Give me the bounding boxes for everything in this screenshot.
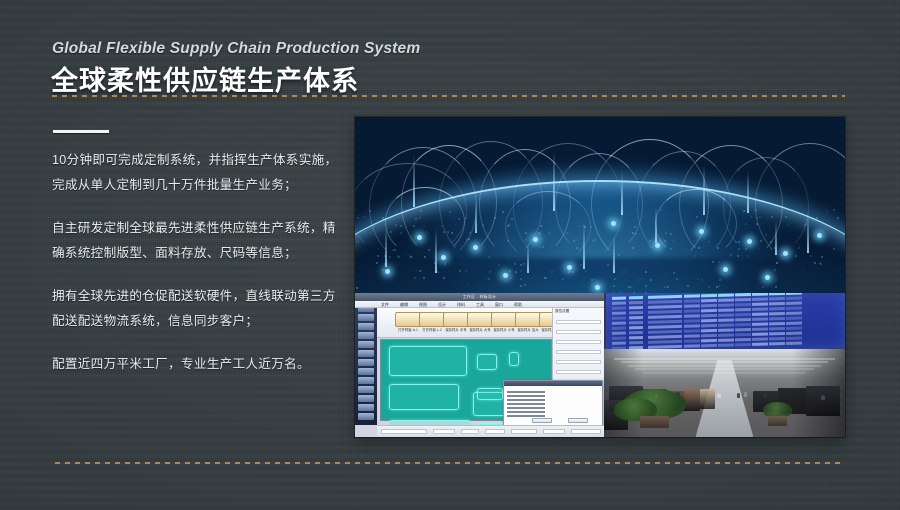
cad-status-segment-2: [461, 429, 479, 434]
led-cell-5-8: [769, 317, 785, 320]
light-bar-5: [385, 227, 387, 267]
network-node-12: [503, 273, 508, 278]
map-dot-15: [676, 278, 678, 280]
map-dot-214: [520, 285, 522, 287]
led-cell-7-6: [735, 328, 751, 331]
map-dot-7: [775, 279, 777, 281]
map-dot-89: [738, 241, 740, 243]
map-dot-190: [737, 255, 739, 257]
led-cell-7-7: [752, 327, 768, 330]
garment-rack-4: [700, 389, 714, 408]
led-cell-4-4: [701, 314, 717, 317]
factory-worker-7: [821, 395, 825, 400]
led-cell-9-8: [769, 337, 785, 340]
led-cell-5-7: [752, 317, 768, 320]
map-dot-229: [385, 270, 387, 272]
led-cell-7-9: [786, 327, 802, 330]
map-dot-38: [449, 211, 451, 213]
map-dot-231: [488, 278, 490, 280]
map-dot-101: [410, 256, 412, 258]
map-dot-34: [719, 279, 721, 281]
network-node-13: [723, 267, 728, 272]
map-dot-162: [724, 209, 726, 211]
ceiling-light-row-2: [628, 365, 821, 367]
map-dot-204: [485, 278, 487, 280]
map-dot-11: [502, 211, 504, 213]
map-dot-192: [826, 263, 828, 265]
map-dot-119: [376, 262, 378, 264]
network-node-3: [533, 237, 538, 242]
map-dot-18: [377, 248, 379, 250]
map-dot-164: [357, 217, 359, 219]
map-dot-171: [730, 254, 732, 256]
cad-tool-icon-7[interactable]: [358, 368, 374, 375]
map-dot-31: [578, 225, 580, 227]
led-cell-8-6: [735, 333, 751, 336]
led-cell-2-8: [769, 302, 785, 305]
map-dot-107: [698, 247, 700, 249]
cad-dialog-button-0[interactable]: [532, 418, 552, 423]
led-cell-4-5: [718, 313, 734, 316]
map-dot-134: [717, 247, 719, 249]
map-dot-98: [708, 286, 710, 288]
cad-tool-icon-3[interactable]: [358, 332, 374, 339]
map-dot-194: [437, 271, 439, 273]
cad-tool-icon-4[interactable]: [358, 341, 374, 348]
map-dot-202: [419, 270, 421, 272]
map-dot-180: [685, 248, 687, 250]
map-dot-66: [476, 224, 478, 226]
led-cell-8-0: [612, 336, 626, 339]
map-dot-131: [544, 277, 546, 279]
map-dot-105: [594, 239, 596, 241]
footer-dashed-divider: [55, 462, 845, 464]
led-cell-1-0: [612, 301, 626, 304]
map-dot-56: [419, 217, 421, 219]
map-dot-198: [655, 254, 657, 256]
cad-dialog-line-2: [507, 399, 545, 401]
led-cell-7-0: [612, 331, 626, 334]
map-dot-91: [363, 216, 365, 218]
map-dot-88: [650, 279, 652, 281]
map-dot-19: [396, 210, 398, 212]
cad-ribbon-button-5[interactable]: [515, 312, 541, 327]
cad-tool-icon-10[interactable]: [358, 395, 374, 402]
map-dot-75: [458, 218, 460, 220]
cad-menubar: 文件编辑视图设计排料工具窗口帮助: [355, 301, 604, 308]
led-cell-5-0: [612, 321, 626, 324]
map-dot-97: [673, 240, 675, 242]
map-dot-93: [482, 224, 484, 226]
map-dot-10: [428, 249, 430, 251]
led-cell-4-2: [648, 315, 682, 319]
led-cell-2-5: [718, 303, 734, 306]
led-cell-7-3: [684, 329, 700, 332]
map-dot-183: [382, 269, 384, 271]
map-dot-176: [469, 232, 471, 234]
led-cell-8-5: [718, 333, 734, 336]
led-cell-5-6: [735, 318, 751, 321]
led-cell-9-4: [701, 339, 717, 342]
map-dot-188: [656, 247, 658, 249]
led-cell-0-1: [629, 296, 643, 299]
map-dot-174: [373, 224, 375, 226]
cad-tool-icon-9[interactable]: [358, 386, 374, 393]
map-dot-187: [583, 285, 585, 287]
map-dot-234: [622, 215, 624, 217]
map-dot-3: [523, 263, 525, 265]
pattern-piece-0: [389, 346, 467, 376]
network-arc-14: [655, 189, 737, 259]
led-cell-10-4: [701, 344, 717, 347]
led-cell-10-5: [718, 343, 734, 346]
factory-worker-4: [737, 393, 740, 398]
led-cell-6-8: [769, 322, 785, 325]
cad-property-field-2[interactable]: [556, 340, 601, 344]
map-dot-195: [524, 284, 526, 286]
led-cell-6-0: [612, 326, 626, 329]
map-dot-111: [444, 263, 446, 265]
map-dot-185: [443, 277, 445, 279]
map-dot-27: [833, 209, 835, 211]
led-cell-10-6: [735, 343, 751, 346]
cad-ribbon-button-2[interactable]: [443, 312, 469, 327]
led-cell-2-0: [612, 306, 626, 309]
map-dot-76: [520, 264, 522, 266]
plant-pot-1: [640, 416, 669, 428]
light-bar-11: [655, 207, 657, 243]
led-cell-9-0: [612, 341, 626, 344]
network-node-10: [817, 233, 822, 238]
led-cell-7-2: [648, 330, 682, 334]
map-dot-92: [386, 262, 388, 264]
map-dot-106: [645, 285, 647, 287]
factory-worker-3: [717, 393, 720, 398]
map-dot-156: [415, 269, 417, 271]
led-cell-0-2: [648, 295, 682, 299]
cad-properties-header: 属性设置: [555, 309, 569, 314]
cad-property-field-1[interactable]: [556, 330, 601, 334]
cad-property-field-4[interactable]: [556, 360, 601, 364]
cad-tool-icon-12[interactable]: [358, 413, 374, 420]
map-dot-63: [356, 287, 358, 289]
network-node-8: [747, 239, 752, 244]
led-cell-8-1: [629, 336, 643, 339]
led-cell-0-5: [718, 293, 734, 296]
map-dot-72: [770, 248, 772, 250]
map-dot-81: [789, 209, 791, 211]
map-dot-208: [712, 261, 714, 263]
cad-status-segment-1: [433, 429, 455, 434]
map-dot-57: [514, 263, 516, 265]
cad-tool-icon-5[interactable]: [358, 350, 374, 357]
map-dot-59: [568, 271, 570, 273]
map-dot-140: [489, 271, 491, 273]
map-dot-42: [697, 278, 699, 280]
map-dot-172: [771, 216, 773, 218]
map-dot-41: [632, 232, 634, 234]
led-cell-3-1: [629, 311, 643, 314]
led-cell-4-1: [629, 316, 643, 319]
network-node-7: [699, 229, 704, 234]
map-dot-228: [787, 224, 789, 226]
light-bar-10: [475, 199, 477, 233]
map-dot-223: [539, 246, 541, 248]
led-cell-1-8: [769, 297, 785, 300]
cad-tool-icon-2[interactable]: [358, 323, 374, 330]
network-arc-13: [505, 191, 591, 263]
cad-dialog-line-3: [507, 403, 545, 405]
map-dot-181: [744, 210, 746, 212]
cad-status-segment-6: [571, 429, 601, 434]
led-cell-9-3: [684, 339, 700, 342]
header-dashed-divider: [52, 95, 845, 97]
light-bar-13: [775, 221, 777, 255]
map-dot-64: [394, 249, 396, 251]
led-cell-3-6: [735, 308, 751, 311]
cad-status-segment-3: [485, 429, 505, 434]
map-dot-73: [826, 210, 828, 212]
pattern-piece-2: [389, 384, 459, 410]
factory-worker-6: [763, 393, 767, 398]
led-cell-4-7: [752, 312, 768, 315]
media-montage: 工作区 - 样板设计 文件编辑视图设计排料工具窗口帮助 打开样板 A-1打开样板…: [355, 117, 845, 437]
map-dot-205: [592, 240, 594, 242]
map-dot-90: [757, 287, 759, 289]
cad-ribbon-button-1[interactable]: [419, 312, 445, 327]
map-dot-206: [630, 286, 632, 288]
led-cell-4-6: [735, 313, 751, 316]
cad-dialog: [503, 380, 603, 427]
map-dot-196: [542, 246, 544, 248]
network-arc-12: [385, 187, 465, 257]
led-cell-5-3: [684, 319, 700, 322]
pattern-piece-5: [477, 354, 497, 370]
map-dot-218: [756, 217, 758, 219]
map-dot-24: [663, 272, 665, 274]
map-dot-211: [364, 231, 366, 233]
led-cell-6-4: [701, 324, 717, 327]
map-dot-227: [776, 262, 778, 264]
map-dot-155: [821, 256, 823, 258]
led-cell-0-7: [752, 293, 768, 296]
map-dot-230: [400, 232, 402, 234]
led-cell-2-2: [648, 305, 682, 309]
map-dot-215: [576, 247, 578, 249]
global-network-globe-image: [355, 117, 845, 293]
map-dot-132: [576, 239, 578, 241]
map-dot-191: [816, 217, 818, 219]
network-node-1: [417, 235, 422, 240]
cad-dialog-line-0: [507, 391, 545, 393]
led-production-dashboard: [606, 293, 845, 355]
map-dot-49: [580, 264, 582, 266]
globe-network-overlay: [355, 117, 845, 293]
cad-tool-icon-6[interactable]: [358, 359, 374, 366]
led-cell-9-2: [648, 340, 682, 344]
cad-tool-icon-11[interactable]: [358, 404, 374, 411]
led-cell-2-1: [629, 306, 643, 309]
map-dot-150: [593, 278, 595, 280]
led-cell-8-3: [684, 334, 700, 337]
map-dot-161: [632, 247, 634, 249]
cad-dialog-button-1[interactable]: [568, 418, 588, 423]
map-dot-99: [745, 248, 747, 250]
network-node-2: [473, 245, 478, 250]
led-cell-3-2: [648, 310, 682, 314]
map-dot-23: [634, 226, 636, 228]
map-dot-115: [637, 279, 639, 281]
garment-rack-7: [806, 386, 840, 416]
map-dot-20: [488, 256, 490, 258]
led-cell-6-9: [786, 322, 802, 325]
map-dot-52: [687, 285, 689, 287]
led-cell-7-1: [629, 331, 643, 334]
map-dot-121: [465, 270, 467, 272]
map-dot-135: [755, 209, 757, 211]
led-cell-8-9: [786, 332, 802, 335]
led-cell-3-3: [684, 309, 700, 312]
body-copy: 10分钟即可完成定制系统，并指挥生产体系实施，完成从单人定制到几十万件批量生产业…: [52, 148, 342, 377]
led-cell-6-5: [718, 323, 734, 326]
led-cell-8-2: [648, 335, 682, 339]
led-cell-6-2: [648, 325, 682, 329]
led-cell-0-3: [684, 294, 700, 297]
led-cell-9-6: [735, 338, 751, 341]
cad-window-titlebar: 工作区 - 样板设计: [355, 293, 604, 301]
map-dot-128: [389, 256, 391, 258]
cad-status-segment-5: [543, 429, 565, 434]
factory-floor-image: [604, 293, 845, 437]
cad-ribbon-button-0[interactable]: [395, 312, 421, 327]
map-dot-70: [664, 240, 666, 242]
cad-dialog-line-1: [507, 395, 545, 397]
map-dot-158: [510, 277, 512, 279]
map-dot-127: [780, 210, 782, 212]
map-dot-112: [507, 225, 509, 227]
map-dot-36: [823, 287, 825, 289]
light-bar-9: [807, 213, 809, 253]
map-dot-222: [467, 284, 469, 286]
map-dot-117: [781, 254, 783, 256]
led-cell-4-8: [769, 312, 785, 315]
map-dot-47: [424, 256, 426, 258]
map-dot-17: [775, 286, 777, 288]
map-dot-163: [747, 255, 749, 257]
pattern-piece-8: [477, 388, 503, 400]
map-dot-226: [696, 216, 698, 218]
map-dot-126: [758, 248, 760, 250]
light-bar-1: [553, 151, 555, 211]
ceiling-light-row-4: [643, 372, 807, 374]
network-node-9: [783, 251, 788, 256]
map-dot-173: [814, 262, 816, 264]
body-paragraph-1: 10分钟即可完成定制系统，并指挥生产体系实施，完成从单人定制到几十万件批量生产业…: [52, 148, 342, 198]
cad-property-field-3[interactable]: [556, 350, 601, 354]
map-dot-210: [802, 269, 804, 271]
led-cell-3-0: [612, 311, 626, 314]
led-cell-6-6: [735, 323, 751, 326]
map-dot-209: [756, 223, 758, 225]
map-dot-16: [760, 240, 762, 242]
map-dot-186: [512, 239, 514, 241]
map-dot-67: [520, 270, 522, 272]
ceiling-light-row-3: [635, 368, 813, 370]
map-dot-110: [383, 217, 385, 219]
map-dot-85: [540, 225, 542, 227]
map-dot-133: [610, 285, 612, 287]
led-cell-1-2: [648, 300, 682, 304]
map-dot-239: [423, 277, 425, 279]
led-cell-9-9: [786, 337, 802, 340]
led-cell-7-8: [769, 327, 785, 330]
led-cell-6-3: [684, 324, 700, 327]
map-dot-220: [400, 225, 402, 227]
led-cell-9-7: [752, 337, 768, 340]
map-dot-201: [804, 224, 806, 226]
cad-ribbon-button-3[interactable]: [467, 312, 493, 327]
led-cell-7-5: [718, 328, 734, 331]
map-dot-130: [443, 231, 445, 233]
led-cell-10-8: [769, 342, 785, 345]
led-cell-9-1: [629, 341, 643, 344]
map-dot-22: [607, 264, 609, 266]
led-cell-4-9: [786, 312, 802, 315]
cad-statusbar: [377, 425, 604, 437]
map-dot-177: [520, 278, 522, 280]
map-dot-6: [709, 233, 711, 235]
cad-window-title: 工作区 - 样板设计: [463, 294, 497, 300]
map-dot-60: [669, 233, 671, 235]
led-cell-0-4: [701, 294, 717, 297]
led-cell-9-5: [718, 338, 734, 341]
map-dot-100: [369, 210, 371, 212]
map-dot-237: [774, 269, 776, 271]
network-node-5: [611, 221, 616, 226]
map-dot-120: [455, 224, 457, 226]
map-dot-153: [738, 248, 740, 250]
map-dot-184: [447, 231, 449, 233]
cad-ribbon-button-4[interactable]: [491, 312, 517, 327]
map-dot-160: [613, 285, 615, 287]
map-dot-69: [614, 278, 616, 280]
map-dot-43: [693, 240, 695, 242]
cad-toolbar-left: [355, 301, 377, 425]
cad-property-field-5[interactable]: [556, 370, 601, 374]
led-cell-1-4: [701, 299, 717, 302]
led-cell-7-4: [701, 329, 717, 332]
light-bar-3: [703, 165, 705, 215]
led-cell-2-9: [786, 302, 802, 305]
map-dot-94: [509, 270, 511, 272]
map-dot-212: [414, 277, 416, 279]
map-dot-145: [759, 216, 761, 218]
cad-tool-icon-8[interactable]: [358, 377, 374, 384]
map-dot-235: [718, 261, 720, 263]
map-dot-113: [572, 271, 574, 273]
map-dot-193: [423, 225, 425, 227]
map-dot-123: [562, 278, 564, 280]
led-cell-1-9: [786, 297, 802, 300]
cad-property-field-0[interactable]: [556, 320, 601, 324]
pattern-piece-6: [509, 352, 519, 366]
eyebrow-english-title: Global Flexible Supply Chain Production …: [52, 40, 420, 58]
cad-status-segment-0: [381, 429, 427, 434]
map-dot-74: [398, 256, 400, 258]
led-cell-1-6: [735, 298, 751, 301]
map-dot-21: [511, 218, 513, 220]
cad-tool-icon-1[interactable]: [358, 314, 374, 321]
